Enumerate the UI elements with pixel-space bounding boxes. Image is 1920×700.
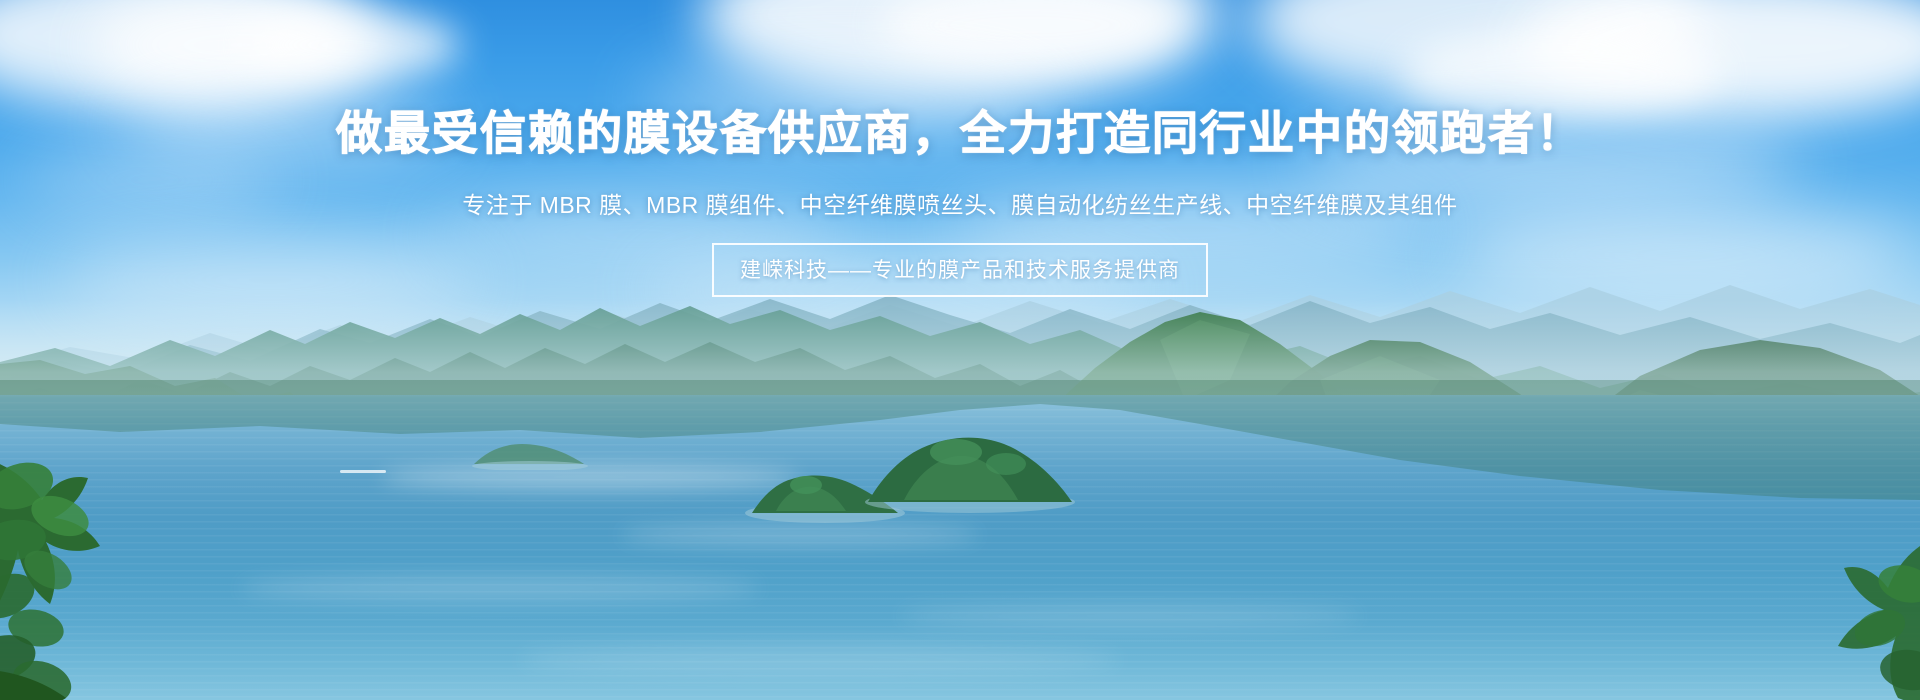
banner-headline: 做最受信赖的膜设备供应商，全力打造同行业中的领跑者！ [0,97,1920,163]
banner-text-overlay: 做最受信赖的膜设备供应商，全力打造同行业中的领跑者！ 专注于 MBR 膜、MBR… [0,0,1920,700]
hero-banner: 做最受信赖的膜设备供应商，全力打造同行业中的领跑者！ 专注于 MBR 膜、MBR… [0,0,1920,700]
banner-subheadline: 专注于 MBR 膜、MBR 膜组件、中空纤维膜喷丝头、膜自动化纺丝生产线、中空纤… [0,186,1920,220]
banner-tagline-box: 建嵘科技——专业的膜产品和技术服务提供商 [712,243,1208,297]
banner-tagline-wrapper: 建嵘科技——专业的膜产品和技术服务提供商 [0,243,1920,297]
